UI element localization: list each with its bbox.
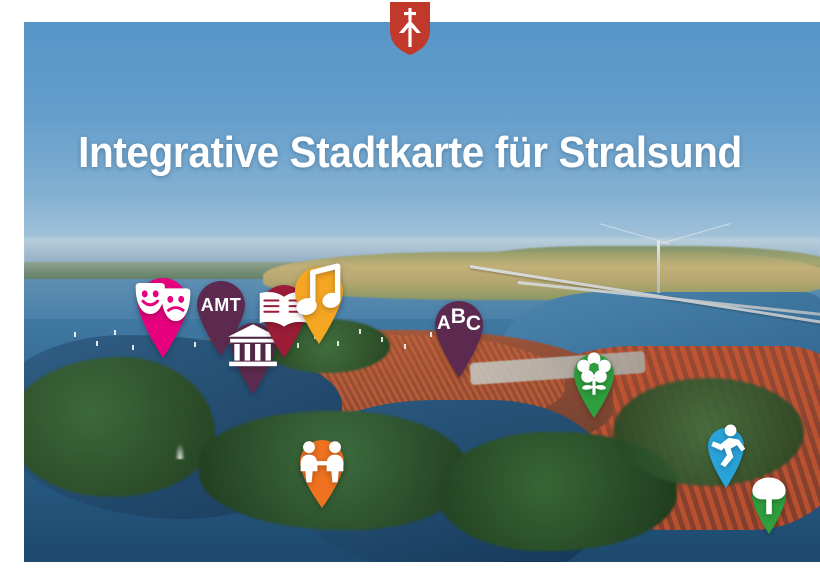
page-title: Integrative Stadtkarte für Stralsund [33, 128, 787, 178]
coat-of-arms-crest [388, 0, 432, 56]
pin-shape [748, 474, 790, 534]
map-pin-garden[interactable] [570, 350, 618, 418]
sailboat [359, 329, 361, 334]
sailboat [96, 341, 98, 346]
pin-shape [570, 350, 618, 418]
sailboat [381, 337, 383, 342]
sailboat [404, 344, 406, 349]
map-pin-school[interactable]: ABC [430, 296, 488, 378]
pin-shape [704, 424, 748, 488]
greenery-mass [24, 357, 215, 497]
pin-shape [430, 296, 488, 378]
map-pin-kids[interactable] [296, 436, 348, 508]
map-pin-nature[interactable] [748, 474, 790, 534]
pin-shape [132, 272, 194, 358]
map-pin-music[interactable] [290, 262, 348, 344]
sailboat [74, 332, 76, 337]
pin-shape [290, 262, 348, 344]
map-pin-sports[interactable] [704, 424, 748, 488]
lake-fountain [175, 443, 185, 459]
sailboat [114, 330, 116, 335]
map-pin-theatre[interactable] [132, 272, 194, 358]
pin-shape [296, 436, 348, 508]
poster-root: Integrative Stadtkarte für Stralsund [0, 0, 820, 580]
bridge-pylon [657, 241, 660, 293]
shield-crest-icon [388, 0, 432, 56]
